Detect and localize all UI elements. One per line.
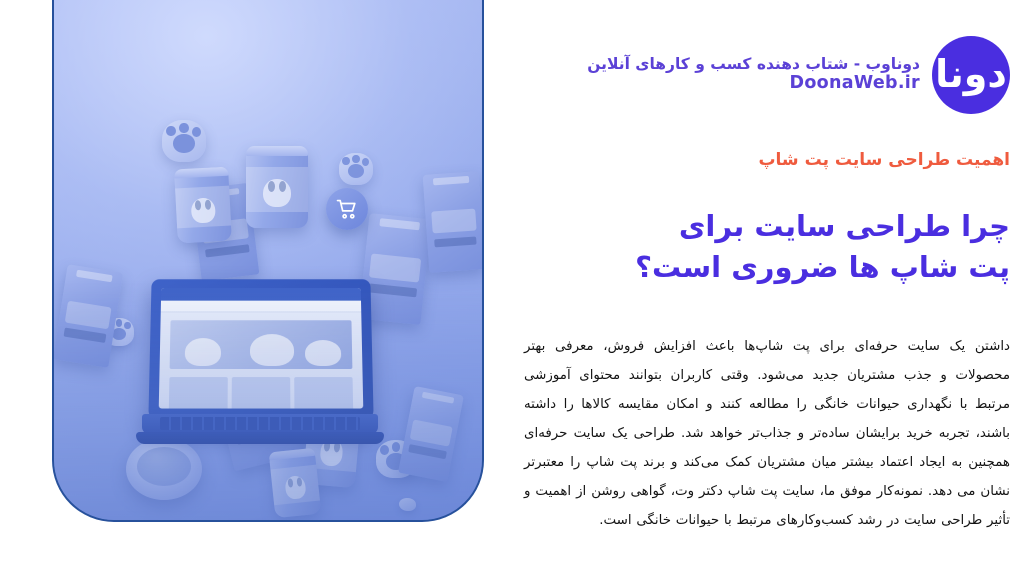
- brand-lockup[interactable]: دونا دوناوب - شتاب دهنده کسب و کارهای آن…: [587, 36, 1010, 114]
- brand-tagline: دوناوب - شتاب دهنده کسب و کارهای آنلاین: [587, 56, 920, 73]
- headline-line-2: پت شاپ ها ضروری است؟: [530, 247, 1010, 288]
- pet-food-can: [246, 146, 308, 228]
- photo-floor-shadow: [54, 280, 482, 520]
- pet-food-can: [174, 167, 232, 244]
- paw-shape-treat: [162, 120, 206, 162]
- content-column: دونا دوناوب - شتاب دهنده کسب و کارهای آن…: [500, 0, 1024, 576]
- article-body: داشتن یک سایت حرفه‌ای برای پت شاپ‌ها باع…: [524, 332, 1010, 536]
- eyebrow-label: اهمیت طراحی سایت پت شاپ: [530, 150, 1010, 170]
- doona-circle-logo-icon[interactable]: دونا: [932, 36, 1010, 114]
- logo-mark-text: دونا: [935, 55, 1007, 93]
- headline-line-1: چرا طراحی سایت برای: [530, 206, 1010, 247]
- brand-text-block: دوناوب - شتاب دهنده کسب و کارهای آنلاین …: [587, 56, 920, 94]
- hero-photo-panel: [52, 0, 484, 522]
- poster-canvas: دونا دوناوب - شتاب دهنده کسب و کارهای آن…: [0, 0, 1024, 576]
- paw-shape-treat: [339, 153, 373, 185]
- pet-food-pouch: [423, 171, 482, 273]
- page-title: چرا طراحی سایت برای پت شاپ ها ضروری است؟: [530, 206, 1010, 288]
- hero-photo-image: [54, 0, 482, 520]
- brand-website: DoonaWeb.ir: [587, 74, 920, 94]
- shopping-cart-icon: [326, 188, 368, 230]
